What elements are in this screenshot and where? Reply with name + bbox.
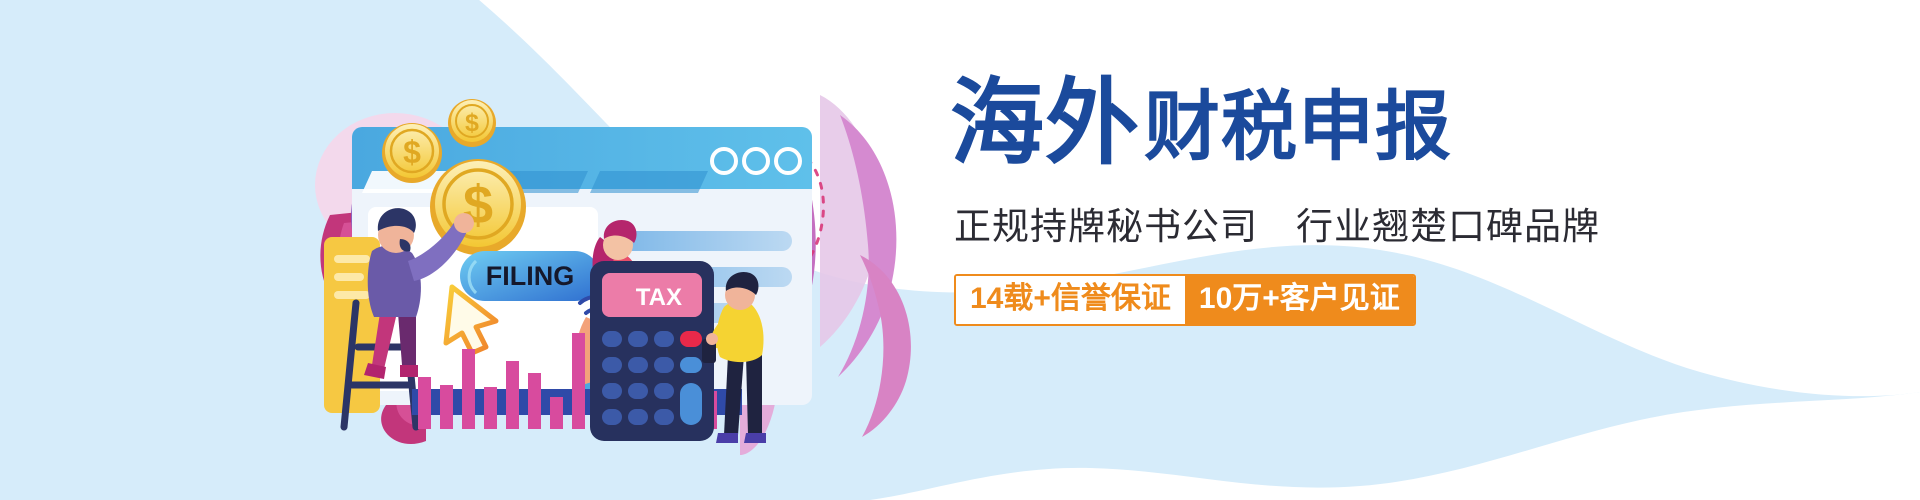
svg-text:$: $ — [403, 134, 421, 170]
calculator: TAX — [590, 261, 714, 441]
svg-text:$: $ — [465, 109, 479, 137]
filing-button: FILING — [460, 251, 600, 301]
coin-small: $ — [448, 99, 496, 147]
coin-medium: $ — [382, 123, 442, 183]
badge-group: 14载+信誉保证 10万+客户见证 — [954, 274, 1416, 326]
status-badge-experience: 14载+信誉保证 — [956, 276, 1185, 324]
promo-banner: $ $ $ — [0, 0, 1920, 500]
calculator-display-label: TAX — [636, 284, 682, 311]
headline-secondary: 财税申报 — [1144, 90, 1452, 170]
banner-copy: 海外 财税申报 正规持牌秘书公司 行业翘楚口碑品牌 14载+信誉保证 10万+客… — [950, 76, 1650, 326]
headline-primary: 海外 — [950, 76, 1140, 170]
status-badge-clients: 10万+客户见证 — [1185, 276, 1414, 324]
banner-subtitle: 正规持牌秘书公司 行业翘楚口碑品牌 — [954, 196, 1650, 250]
page-title: 海外 财税申报 — [950, 76, 1650, 170]
hero-illustration: $ $ $ — [300, 55, 940, 455]
filing-button-label: FILING — [486, 261, 575, 291]
